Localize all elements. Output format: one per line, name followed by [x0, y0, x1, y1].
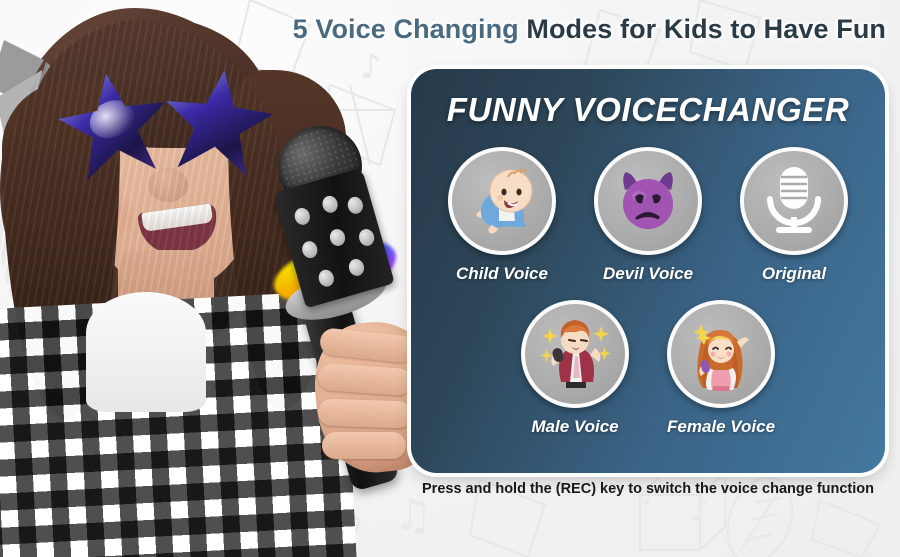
lens-glint	[84, 93, 141, 145]
model-photo	[0, 0, 420, 557]
female-singer-icon	[679, 312, 763, 396]
voice-mode-devil[interactable]: Devil Voice	[594, 147, 702, 284]
white-tee	[86, 292, 206, 412]
voice-mode-label: Devil Voice	[603, 264, 693, 284]
instruction-caption: Press and hold the (REC) key to switch t…	[411, 481, 885, 497]
mic-button	[346, 195, 365, 215]
male-singer-icon	[533, 312, 617, 396]
microphone-icon	[762, 165, 826, 237]
male-voice-circle[interactable]	[521, 300, 629, 408]
voice-mode-label: Female Voice	[667, 417, 775, 437]
voice-mode-list: Child Voice	[411, 147, 885, 437]
voice-mode-label: Original	[762, 264, 826, 284]
original-voice-circle[interactable]	[740, 147, 848, 255]
voice-mode-male[interactable]: Male Voice	[521, 300, 629, 437]
voice-mode-row-2: Male Voice	[411, 300, 885, 437]
product-banner: ♫ ♪ ♩ ♪ ♫ ♪ ♩ ♪ 5 Voice Changing Modes f…	[0, 0, 900, 557]
voice-mode-original[interactable]: Original	[740, 147, 848, 284]
voice-mode-label: Child Voice	[456, 264, 548, 284]
svg-text:♪: ♪	[690, 493, 709, 528]
finger	[318, 398, 413, 428]
mic-button	[321, 194, 340, 214]
finger	[322, 432, 406, 459]
devil-voice-circle[interactable]	[594, 147, 702, 255]
voice-changer-panel: FUNNY VOICECHANGER	[411, 69, 885, 473]
star-sunglasses-icon	[60, 70, 290, 165]
mic-button	[328, 227, 347, 247]
voice-mode-female[interactable]: Female Voice	[667, 300, 775, 437]
karaoke-microphone	[258, 126, 420, 486]
child-voice-circle[interactable]	[448, 147, 556, 255]
voice-mode-label: Male Voice	[531, 417, 618, 437]
mic-button	[347, 257, 366, 277]
headline-part-2: Modes for Kids to Have Fun	[526, 14, 886, 44]
baby-icon	[464, 163, 540, 239]
voice-mode-child[interactable]: Child Voice	[448, 147, 556, 284]
devil-face-icon	[613, 166, 683, 236]
panel-title: FUNNY VOICECHANGER	[411, 91, 885, 129]
female-voice-circle[interactable]	[667, 300, 775, 408]
mic-button	[300, 239, 319, 259]
mic-button	[317, 268, 336, 288]
voice-mode-row-1: Child Voice	[411, 147, 885, 284]
mic-button	[357, 227, 376, 247]
mic-button	[293, 206, 312, 226]
